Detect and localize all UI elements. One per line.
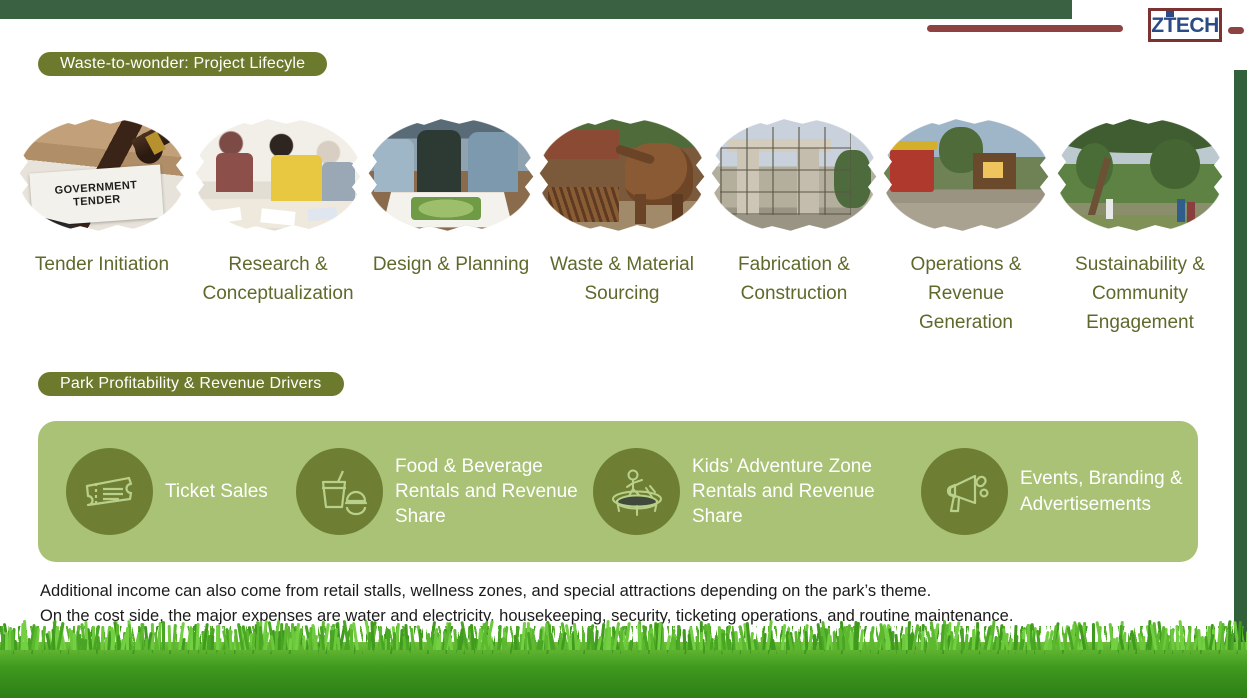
lifecycle-stage-operations-revenue[interactable]: Operations & Revenue Generation — [880, 118, 1052, 338]
lifecycle-strip: GOVERNMENTTENDER Tender Initiation Resea… — [0, 118, 1235, 358]
lifecycle-stage-label: Design & Planning — [366, 251, 536, 280]
scrap-metal-elephant-sculpture-photo — [538, 118, 706, 233]
lifecycle-stage-design-planning[interactable]: Design & Planning — [366, 118, 536, 280]
scaffolded-arch-construction-photo — [710, 118, 878, 233]
revenue-driver-label: Food & Beverage Rentals and Revenue Shar… — [395, 454, 593, 529]
revenue-driver-kids-adventure-zone[interactable]: Kids’ Adventure Zone Rentals and Revenue… — [593, 448, 921, 535]
revenue-driver-ticket-sales[interactable]: Ticket Sales — [66, 448, 296, 535]
section-title-revenue-label: Park Profitability & Revenue Drivers — [60, 375, 322, 393]
lifecycle-stage-label: Waste & Material Sourcing — [536, 251, 708, 309]
lifecycle-stage-label: Operations & Revenue Generation — [880, 251, 1052, 338]
revenue-driver-events-branding[interactable]: Events, Branding & Advertisements — [921, 448, 1191, 535]
lifecycle-stage-label: Tender Initiation — [14, 251, 190, 280]
revenue-drivers-panel: Ticket Sales Food & Beverage Rentals and… — [38, 421, 1198, 562]
ztech-logo-text: ZTECH — [1151, 15, 1219, 36]
lifecycle-stage-waste-material-sourcing[interactable]: Waste & Material Sourcing — [536, 118, 708, 309]
park-food-stalls-evening-photo — [882, 118, 1050, 233]
section-title-lifecycle-label: Waste-to-wonder: Project Lifecyle — [60, 55, 305, 73]
green-park-visitors-photo — [1056, 118, 1224, 233]
slide-canvas: ZTECH Waste-to-wonder: Project Lifecyle … — [0, 0, 1247, 698]
lifecycle-stage-tender-initiation[interactable]: GOVERNMENTTENDER Tender Initiation — [14, 118, 190, 280]
right-green-strip — [1234, 70, 1247, 698]
lifecycle-stage-sustainability-community[interactable]: Sustainability & Community Engagement — [1052, 118, 1228, 338]
team-research-workshop-photo — [194, 118, 362, 233]
lifecycle-stage-research-conceptualization[interactable]: Research & Conceptualization — [190, 118, 366, 309]
trampoline-icon — [593, 448, 680, 535]
footnote-line-1: Additional income can also come from ret… — [40, 579, 1215, 604]
maroon-dash-decoration — [927, 25, 1123, 32]
designers-blueprint-photo — [367, 118, 535, 233]
revenue-driver-label: Ticket Sales — [165, 479, 268, 504]
grass-blades — [0, 620, 1247, 650]
ztech-logo: ZTECH — [1148, 8, 1222, 42]
lifecycle-stage-label: Fabrication & Construction — [708, 251, 880, 309]
revenue-driver-food-beverage[interactable]: Food & Beverage Rentals and Revenue Shar… — [296, 448, 593, 535]
maroon-dot-decoration — [1228, 27, 1244, 34]
lifecycle-stage-label: Sustainability & Community Engagement — [1052, 251, 1228, 338]
lifecycle-stage-label: Research & Conceptualization — [190, 251, 366, 309]
top-green-bar — [0, 0, 1072, 19]
grass-border — [0, 642, 1247, 698]
ticket-icon — [66, 448, 153, 535]
revenue-driver-label: Events, Branding & Advertisements — [1020, 466, 1191, 516]
section-title-revenue: Park Profitability & Revenue Drivers — [38, 372, 344, 396]
section-title-lifecycle: Waste-to-wonder: Project Lifecyle — [38, 52, 327, 76]
government-tender-gavel-photo: GOVERNMENTTENDER — [18, 118, 186, 233]
lifecycle-stage-fabrication-construction[interactable]: Fabrication & Construction — [708, 118, 880, 309]
megaphone-icon — [921, 448, 1008, 535]
revenue-driver-label: Kids’ Adventure Zone Rentals and Revenue… — [692, 454, 921, 529]
food-beverage-icon — [296, 448, 383, 535]
